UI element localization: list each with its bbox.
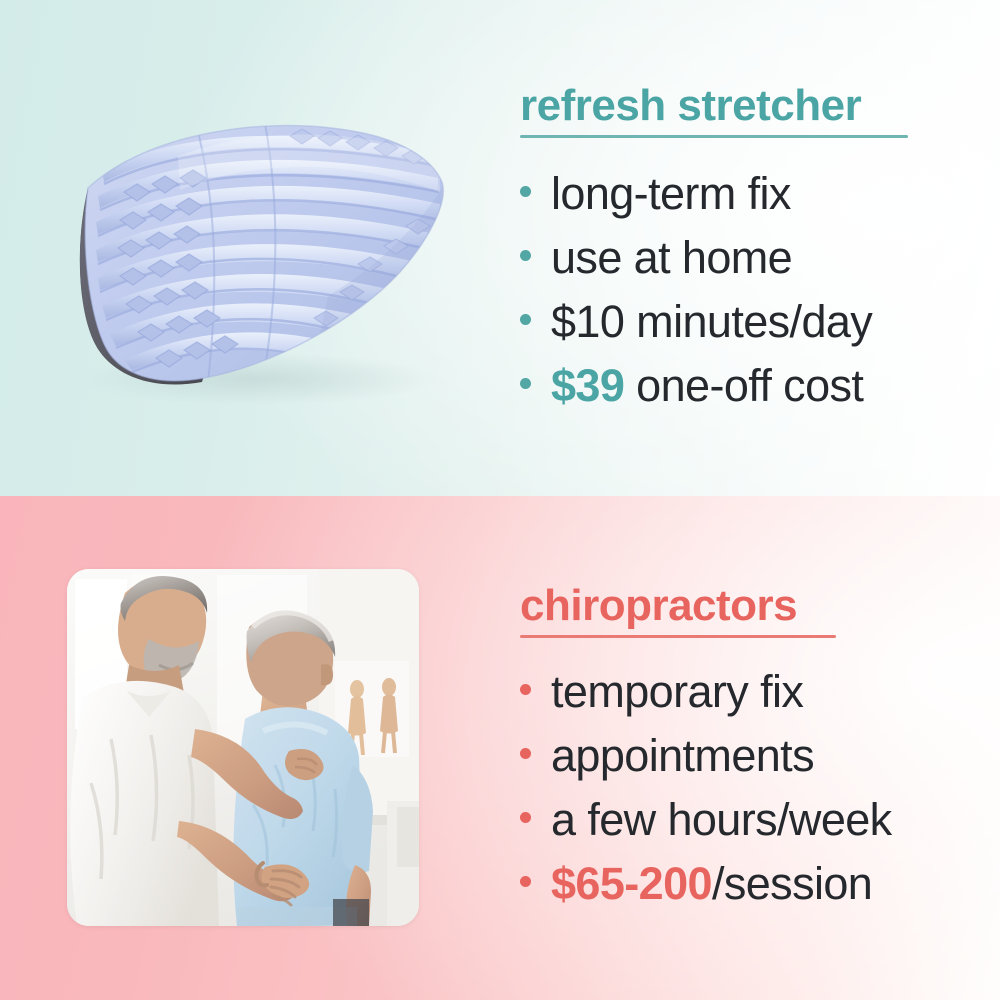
list-item-label: long-term fix <box>551 168 791 220</box>
bullet-dot-icon <box>520 314 531 325</box>
list-item-label: $10 minutes/day <box>551 296 872 348</box>
price-suffix: one-off cost <box>624 360 863 411</box>
bullet-dot-icon <box>520 748 531 759</box>
list-item-label: use at home <box>551 232 792 284</box>
list-item: appointments <box>520 730 980 794</box>
page-title-refresh-stretcher: refresh stretcher <box>520 84 980 128</box>
list-item-price: $65-200/session <box>520 858 980 922</box>
list-item-label: $65-200/session <box>551 858 872 910</box>
list-item-label: appointments <box>551 730 814 782</box>
heading-underline-teal <box>520 135 908 138</box>
bullet-dot-icon <box>520 684 531 695</box>
price-accent: $65-200 <box>551 858 712 909</box>
list-item-label: temporary fix <box>551 666 803 718</box>
bullet-dot-icon <box>520 378 531 389</box>
refresh-stretcher-text: refresh stretcher long-term fix use at h… <box>520 84 980 424</box>
list-item: use at home <box>520 232 980 296</box>
page-title-chiropractors: chiropractors <box>520 584 980 628</box>
price-accent: $39 <box>551 360 624 411</box>
list-item: temporary fix <box>520 666 980 730</box>
list-item-label: $39 one-off cost <box>551 360 863 412</box>
heading-underline-red <box>520 635 836 638</box>
photo-chiropractor-session <box>67 569 419 926</box>
bullet-dot-icon <box>520 812 531 823</box>
bullet-dot-icon <box>520 876 531 887</box>
bullet-dot-icon <box>520 250 531 261</box>
comparison-infographic: refresh stretcher long-term fix use at h… <box>0 0 1000 1000</box>
bullet-dot-icon <box>520 186 531 197</box>
refresh-stretcher-panel: refresh stretcher long-term fix use at h… <box>0 0 1000 496</box>
list-item-price: $39 one-off cost <box>520 360 980 424</box>
chiropractors-bullet-list: temporary fix appointments a few hours/w… <box>520 666 980 922</box>
list-item: long-term fix <box>520 168 980 232</box>
product-image-stretcher <box>28 96 458 406</box>
price-suffix: /session <box>712 858 872 909</box>
chiropractors-text: chiropractors temporary fix appointments… <box>520 584 980 922</box>
refresh-stretcher-bullet-list: long-term fix use at home $10 minutes/da… <box>520 168 980 424</box>
list-item: a few hours/week <box>520 794 980 858</box>
list-item: $10 minutes/day <box>520 296 980 360</box>
list-item-label: a few hours/week <box>551 794 892 846</box>
